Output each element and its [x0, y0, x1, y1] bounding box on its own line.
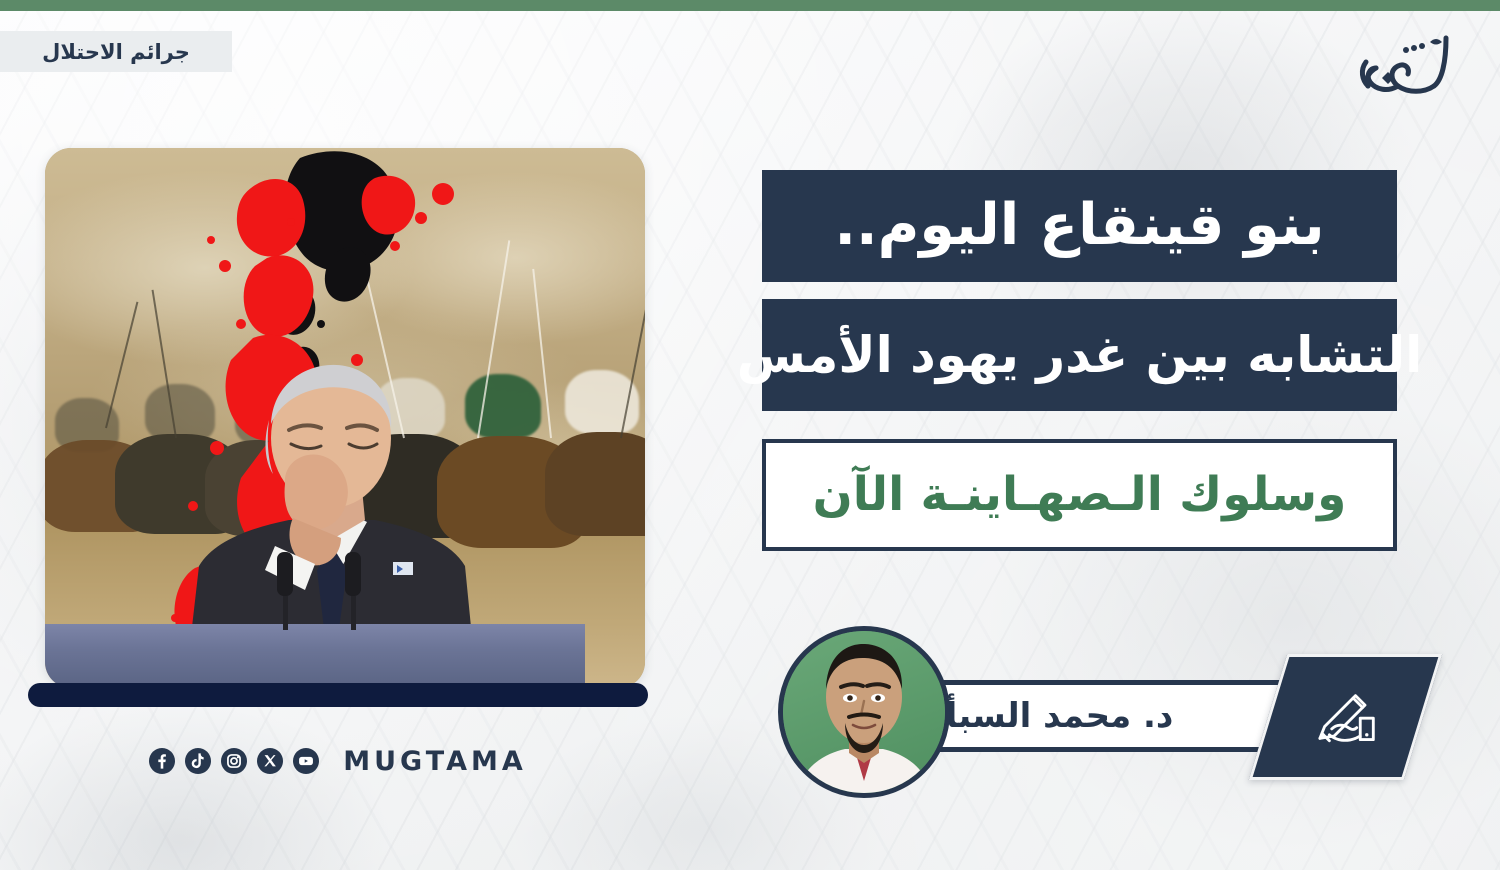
microphone — [277, 552, 293, 630]
headline-line-2: التشابه بين غدر يهود الأمس — [762, 299, 1397, 411]
battle-scene-background — [45, 148, 645, 688]
youtube-icon[interactable] — [293, 748, 319, 774]
brand-wordmark: MUGTAMA — [343, 746, 526, 777]
instagram-icon[interactable] — [221, 748, 247, 774]
headline-line-2-text: التشابه بين غدر يهود الأمس — [737, 329, 1423, 382]
category-badge[interactable]: جرائم الاحتلال — [0, 31, 232, 72]
headline-line-1-text: بنو قينقاع اليوم.. — [834, 196, 1324, 256]
top-accent-strip — [0, 0, 1500, 11]
x-twitter-icon[interactable] — [257, 748, 283, 774]
mugtama-logo[interactable] — [1342, 22, 1462, 108]
photo-underline-bar — [28, 683, 648, 707]
category-badge-label: جرائم الاحتلال — [42, 40, 190, 64]
headline-line-3: وسلوك الـصهـاينـة الآن — [762, 439, 1397, 551]
headline-line-3-text: وسلوك الـصهـاينـة الآن — [813, 470, 1347, 519]
poster-canvas: جرائم الاحتلال — [0, 0, 1500, 870]
podium — [45, 624, 585, 688]
opinion-pen-badge — [1249, 654, 1443, 780]
feature-photo — [45, 148, 645, 688]
author-portrait — [778, 626, 950, 798]
social-links-row: MUGTAMA — [28, 740, 648, 782]
author-name: د. محمد السبأ — [946, 696, 1180, 736]
headline-line-1: بنو قينقاع اليوم.. — [762, 170, 1397, 282]
horse-silhouette — [545, 432, 645, 536]
tiktok-icon[interactable] — [185, 748, 211, 774]
microphone — [345, 552, 361, 630]
facebook-icon[interactable] — [149, 748, 175, 774]
writing-hand-pen-icon — [1308, 679, 1384, 755]
